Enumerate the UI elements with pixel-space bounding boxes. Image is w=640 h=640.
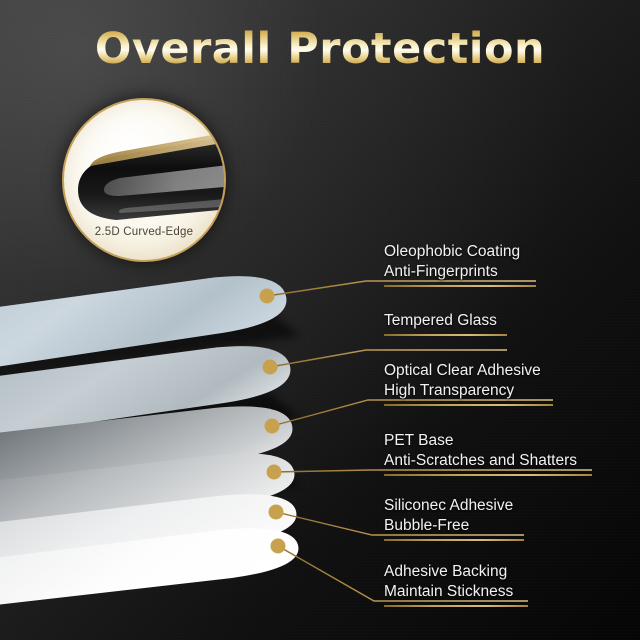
layer-label-2-rule xyxy=(384,334,507,336)
page-title: Overall Protection xyxy=(0,24,640,74)
layer-label-5: Siliconec Adhesive Bubble-Free xyxy=(384,496,524,541)
layer-label-3: Optical Clear Adhesive High Transparency xyxy=(384,361,553,406)
layer-label-3-title: Optical Clear Adhesive xyxy=(384,361,553,381)
layer-label-6-subtitle: Maintain Stickness xyxy=(384,582,528,602)
layer-label-3-rule xyxy=(384,404,553,406)
layer-label-6-rule xyxy=(384,605,528,607)
layer-label-5-title: Siliconec Adhesive xyxy=(384,496,524,516)
layer-label-4-rule xyxy=(384,474,592,476)
connector-dot-1 xyxy=(260,289,275,304)
layer-label-1-rule xyxy=(384,285,536,287)
connector-dot-5 xyxy=(269,505,284,520)
layer-label-3-subtitle: High Transparency xyxy=(384,381,553,401)
curved-edge-inset: 2.5D Curved-Edge xyxy=(62,98,226,262)
inset-caption: 2.5D Curved-Edge xyxy=(64,226,224,238)
layer-label-2-title: Tempered Glass xyxy=(384,311,507,331)
layer-label-6-title: Adhesive Backing xyxy=(384,562,528,582)
layer-label-1: Oleophobic Coating Anti-Fingerprints xyxy=(384,242,536,287)
layer-label-4-subtitle: Anti-Scratches and Shatters xyxy=(384,451,592,471)
layer-label-1-title: Oleophobic Coating xyxy=(384,242,536,262)
connector-dot-2 xyxy=(263,360,278,375)
layer-label-6: Adhesive Backing Maintain Stickness xyxy=(384,562,528,607)
connector-dot-4 xyxy=(267,465,282,480)
layer-label-5-rule xyxy=(384,539,524,541)
connector-dot-3 xyxy=(265,419,280,434)
layer-stack-illustration xyxy=(0,0,640,640)
layer-label-4-title: PET Base xyxy=(384,431,592,451)
layer-label-5-subtitle: Bubble-Free xyxy=(384,516,524,536)
layer-label-1-subtitle: Anti-Fingerprints xyxy=(384,262,536,282)
product-infographic: Overall Protection xyxy=(0,0,640,640)
layer-label-4: PET Base Anti-Scratches and Shatters xyxy=(384,431,592,476)
connector-dot-6 xyxy=(271,539,286,554)
layer-label-2: Tempered Glass xyxy=(384,311,507,336)
